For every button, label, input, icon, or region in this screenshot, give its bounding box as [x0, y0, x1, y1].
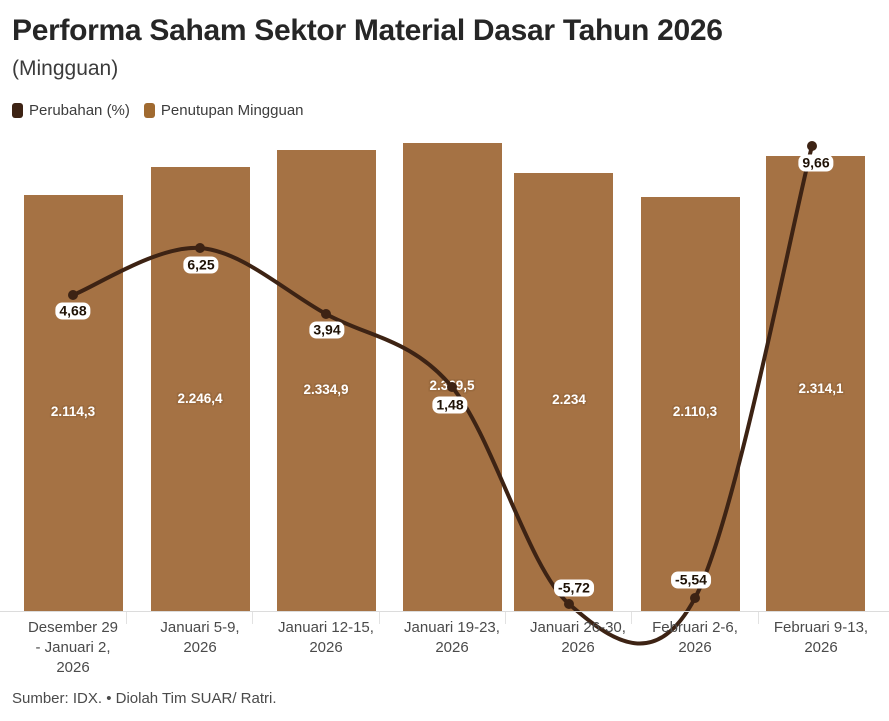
legend-swatch-penutupan — [144, 103, 155, 118]
x-axis-label-line: - Januari 2, — [5, 638, 141, 658]
plot-area: 2.114,32.246,42.334,92.369,52.2342.110,3… — [0, 130, 889, 612]
legend-swatch-perubahan — [12, 103, 23, 118]
x-axis-label-line: Januari 12-15, — [258, 618, 394, 638]
source-note: Sumber: IDX. • Diolah Tim SUAR/ Ratri. — [12, 690, 277, 707]
page-title: Performa Saham Sektor Material Dasar Tah… — [12, 14, 723, 48]
line-point-5[interactable] — [564, 599, 574, 609]
x-axis-label-7: Februari 9-13,2026 — [753, 618, 889, 658]
x-axis-label-line: Januari 26-30, — [510, 618, 646, 638]
x-axis-label-4: Januari 19-23,2026 — [384, 618, 520, 658]
x-axis-label-2: Januari 5-9,2026 — [132, 618, 268, 658]
x-axis-label-6: Februari 2-6,2026 — [627, 618, 763, 658]
line-point-1[interactable] — [68, 290, 78, 300]
x-axis-label-line: 2026 — [627, 638, 763, 658]
line-point-6[interactable] — [690, 593, 700, 603]
x-axis-label-line: Desember 29 — [5, 618, 141, 638]
legend-item-label: Perubahan (%) — [29, 102, 130, 119]
x-axis-label-1: Desember 29- Januari 2,2026 — [5, 618, 141, 678]
line-series-path — [73, 146, 812, 643]
x-axis-label-3: Januari 12-15,2026 — [258, 618, 394, 658]
line-point-2[interactable] — [195, 243, 205, 253]
line-series-layer — [0, 130, 889, 612]
legend-item[interactable]: Perubahan (%) — [12, 102, 130, 119]
chart-page: Performa Saham Sektor Material Dasar Tah… — [0, 0, 889, 721]
x-axis-line — [0, 611, 889, 612]
x-axis-label-line: Februari 9-13, — [753, 618, 889, 638]
x-axis-label-line: 2026 — [510, 638, 646, 658]
x-axis-labels: Desember 29- Januari 2,2026Januari 5-9,2… — [0, 618, 889, 686]
x-axis-label-line: 2026 — [258, 638, 394, 658]
x-axis-label-line: 2026 — [5, 658, 141, 678]
x-axis-label-5: Januari 26-30,2026 — [510, 618, 646, 658]
line-point-4[interactable] — [447, 382, 457, 392]
legend-item-label: Penutupan Mingguan — [161, 102, 304, 119]
legend-item[interactable]: Penutupan Mingguan — [144, 102, 304, 119]
x-axis-label-line: 2026 — [384, 638, 520, 658]
chart-subtitle: (Mingguan) — [12, 57, 118, 81]
line-point-7[interactable] — [807, 141, 817, 151]
line-point-3[interactable] — [321, 309, 331, 319]
x-axis-label-line: 2026 — [753, 638, 889, 658]
chart-legend: Perubahan (%)Penutupan Mingguan — [12, 100, 304, 120]
x-axis-label-line: Januari 19-23, — [384, 618, 520, 638]
x-axis-label-line: Februari 2-6, — [627, 618, 763, 638]
x-axis-label-line: Januari 5-9, — [132, 618, 268, 638]
x-axis-label-line: 2026 — [132, 638, 268, 658]
